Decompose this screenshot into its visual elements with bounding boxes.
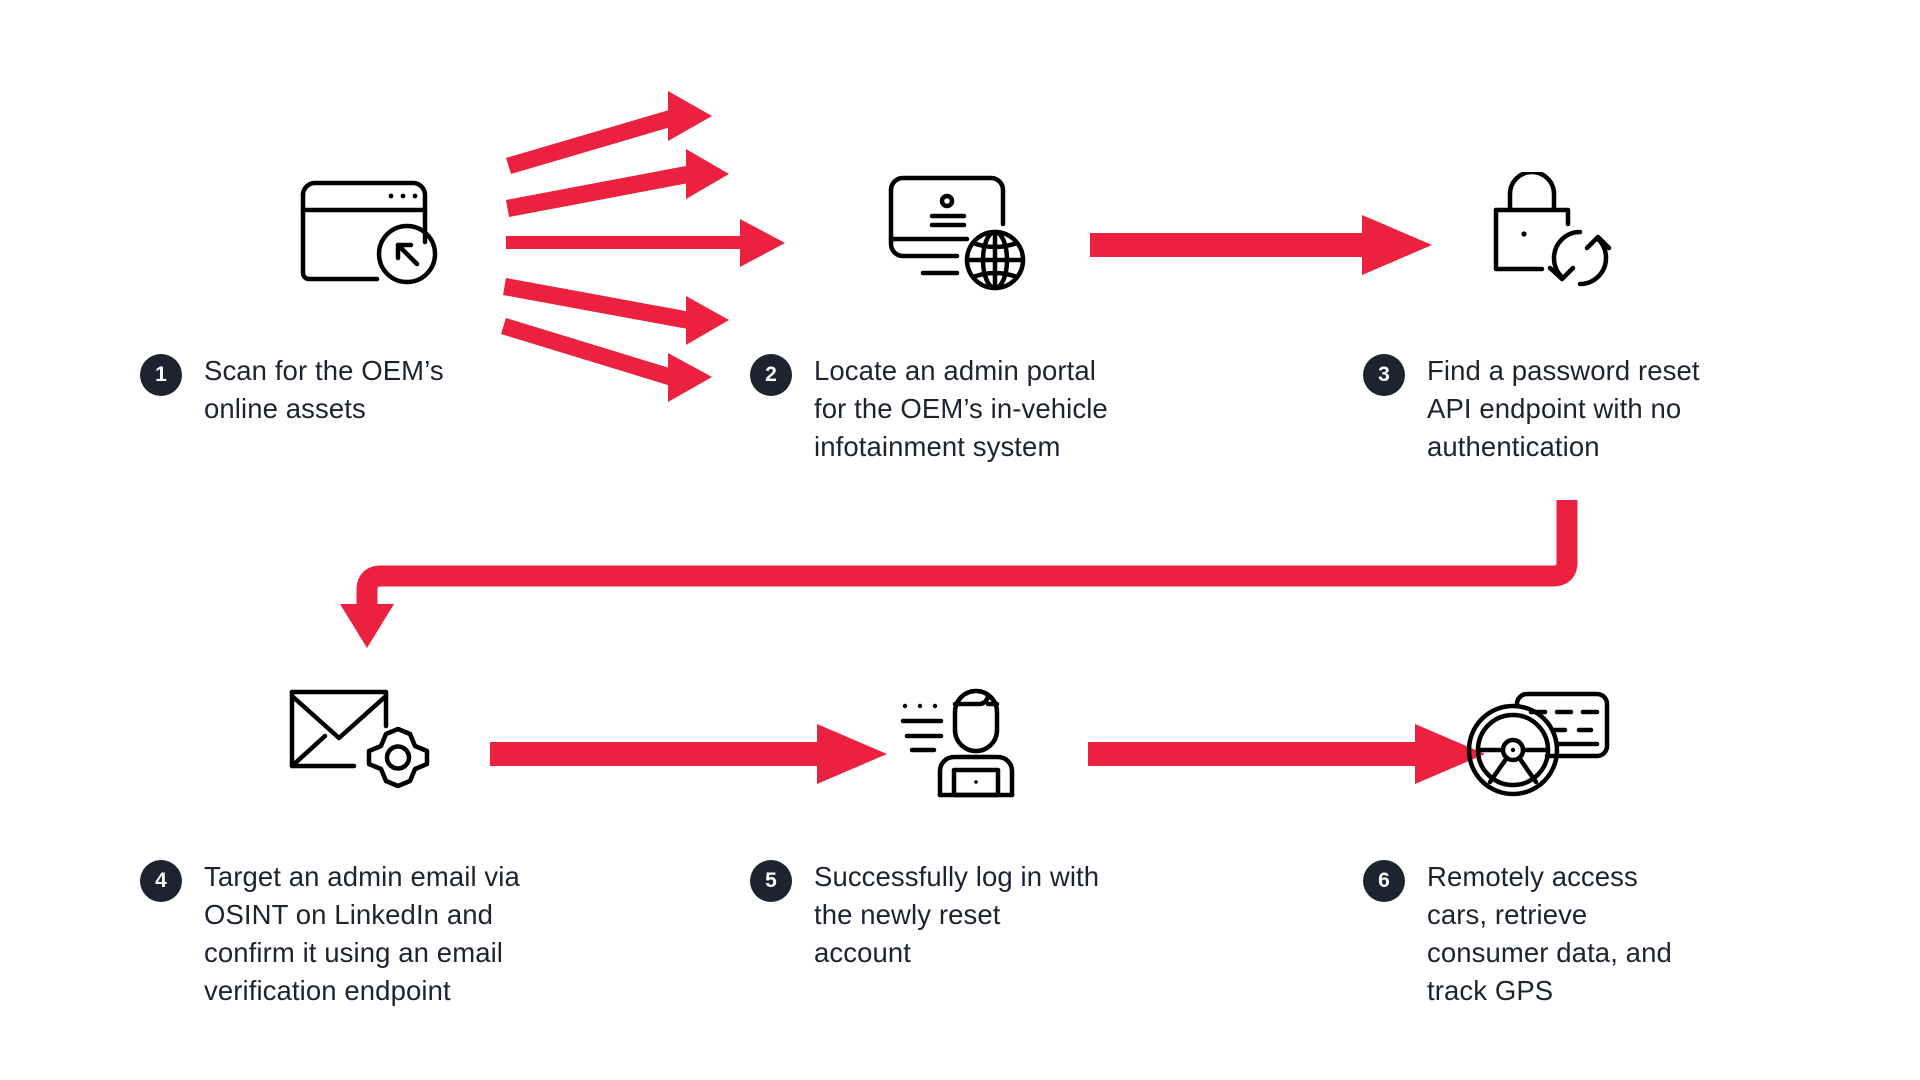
step-1-text: Scan for the OEM’s online assets xyxy=(204,352,470,428)
step-4-label: 4 Target an admin email via OSINT on Lin… xyxy=(140,858,545,1010)
step-5-text: Successfully log in with the newly reset… xyxy=(814,858,1100,972)
person-laptop-login-icon xyxy=(898,678,1038,798)
elbow-arrow-step3-to-step4 xyxy=(367,500,1567,612)
browser-window-cursor-icon xyxy=(295,172,445,292)
step-3-label: 3 Find a password reset API endpoint wit… xyxy=(1363,352,1723,466)
step-4-text: Target an admin email via OSINT on Linke… xyxy=(204,858,545,1010)
fan-arrow-4 xyxy=(503,278,729,345)
step-3-badge: 3 xyxy=(1363,354,1405,396)
step-2-label: 2 Locate an admin portal for the OEM’s i… xyxy=(750,352,1110,466)
step-6-badge: 6 xyxy=(1363,860,1405,902)
step-6-text: Remotely access cars, retrieve consumer … xyxy=(1427,858,1693,1010)
attack-chain-diagram: 1 Scan for the OEM’s online assets 2 Loc… xyxy=(0,0,1920,1080)
arrow-step4-to-step5 xyxy=(490,724,887,784)
arrow-step2-to-step3 xyxy=(1090,215,1432,275)
step-3-text: Find a password reset API endpoint with … xyxy=(1427,352,1723,466)
step-5-badge: 5 xyxy=(750,860,792,902)
fan-arrow-5 xyxy=(501,318,712,402)
fan-arrow-2 xyxy=(506,149,729,217)
step-2-badge: 2 xyxy=(750,354,792,396)
step-6-label: 6 Remotely access cars, retrieve consume… xyxy=(1363,858,1693,1010)
step-1-label: 1 Scan for the OEM’s online assets xyxy=(140,352,470,428)
step-2-text: Locate an admin portal for the OEM’s in-… xyxy=(814,352,1110,466)
step-5-label: 5 Successfully log in with the newly res… xyxy=(750,858,1100,972)
fan-arrow-1 xyxy=(506,91,712,174)
elbow-arrow-head xyxy=(340,604,394,648)
fan-arrow-3 xyxy=(506,219,785,267)
steering-wheel-data-icon xyxy=(1465,678,1620,798)
arrow-step5-to-step6 xyxy=(1088,724,1485,784)
padlock-reset-icon xyxy=(1492,172,1622,292)
envelope-gear-icon xyxy=(288,678,436,798)
step-4-badge: 4 xyxy=(140,860,182,902)
fan-arrows-step1-to-step2 xyxy=(501,91,785,402)
monitor-globe-icon xyxy=(885,172,1040,294)
step-1-badge: 1 xyxy=(140,354,182,396)
